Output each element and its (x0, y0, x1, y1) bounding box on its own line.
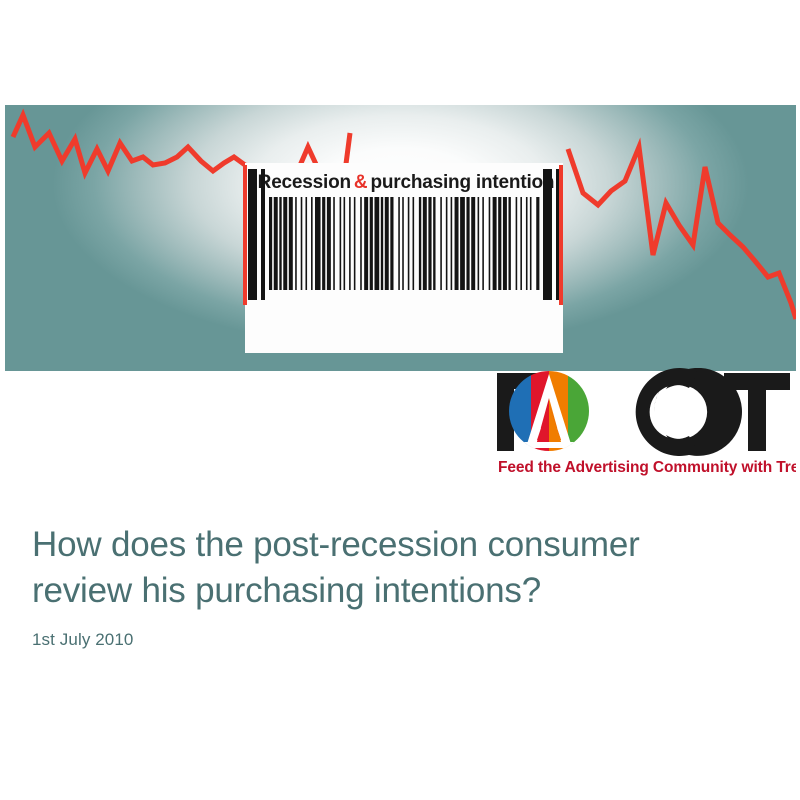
barcode-bar (530, 197, 532, 290)
barcode-caption: Recession & purchasing intention (265, 169, 547, 197)
barcode-bar (455, 197, 459, 290)
barcode-bar (508, 197, 510, 290)
barcode-bar (428, 197, 431, 290)
barcode-bar (520, 197, 522, 290)
logo-letter-a-mark-icon (509, 371, 591, 460)
barcode-bar (279, 197, 281, 290)
barcode-bar (315, 197, 321, 290)
barcode-block: Recession & purchasing intention (245, 163, 563, 353)
page-title-line-1: How does the post-recession consumer (32, 525, 640, 564)
barcode-bar (423, 197, 427, 290)
barcode-bar (354, 197, 356, 290)
line-series-right (568, 147, 796, 319)
barcode-bar (370, 197, 373, 290)
barcode-bar (295, 197, 297, 290)
fact-logo: Feed the Advertising Community with Tren… (492, 368, 796, 478)
barcode-bar (460, 197, 465, 290)
barcode-bar (349, 197, 351, 290)
slide-date: 1st July 2010 (32, 630, 762, 650)
barcode-bar (526, 197, 528, 290)
barcode-bar (283, 197, 287, 290)
barcode-bar (482, 197, 484, 290)
barcode-bar (269, 197, 272, 290)
barcode-bar (408, 197, 410, 290)
barcode-bars (245, 197, 563, 290)
barcode-bar (413, 197, 415, 290)
barcode-caption-ampersand: & (354, 172, 368, 194)
hero-banner: Recession & purchasing intention (5, 105, 796, 371)
barcode-bar (301, 197, 303, 290)
fact-logo-artwork: Feed the Advertising Community with Tren… (492, 368, 796, 478)
slide-canvas: Recession & purchasing intention (0, 0, 800, 800)
barcode-bar (433, 197, 435, 290)
barcode-bar (503, 197, 507, 290)
barcode-bar (398, 197, 400, 290)
barcode-bar (446, 197, 448, 290)
barcode-bar (305, 197, 307, 290)
barcode-bar (327, 197, 331, 290)
barcode-bar (493, 197, 497, 290)
barcode-bar (274, 197, 278, 290)
barcode-bar (471, 197, 475, 290)
barcode-bar (381, 197, 383, 290)
barcode-bar (402, 197, 404, 290)
barcode-bar (536, 197, 539, 290)
barcode-bar (451, 197, 453, 290)
barcode-bar (478, 197, 480, 290)
barcode-bar (340, 197, 342, 290)
barcode-caption-suffix: purchasing intention (370, 172, 554, 194)
barcode-bar (333, 197, 335, 290)
barcode-bar (360, 197, 362, 290)
barcode-bar (344, 197, 346, 290)
logo-tagline: Feed the Advertising Community with Tren… (498, 459, 796, 476)
barcode-bar (311, 197, 313, 290)
barcode-caption-prefix: Recession (258, 172, 351, 194)
title-block: How does the post-recession consumer rev… (32, 522, 762, 650)
barcode-bar (364, 197, 368, 290)
barcode-bar (374, 197, 379, 290)
page-title-line-2: review his purchasing intentions? (32, 571, 541, 610)
barcode-bar (466, 197, 469, 290)
barcode-bar (498, 197, 501, 290)
logo-letter-c (610, 368, 742, 456)
barcode-bar (516, 197, 518, 290)
barcode-bar (489, 197, 491, 290)
barcode-bar (322, 197, 325, 290)
barcode-bar (440, 197, 442, 290)
barcode-bar (289, 197, 293, 290)
barcode-bar (419, 197, 421, 290)
barcode-bar (390, 197, 393, 290)
page-title: How does the post-recession consumer rev… (32, 522, 762, 614)
barcode-bar (385, 197, 389, 290)
